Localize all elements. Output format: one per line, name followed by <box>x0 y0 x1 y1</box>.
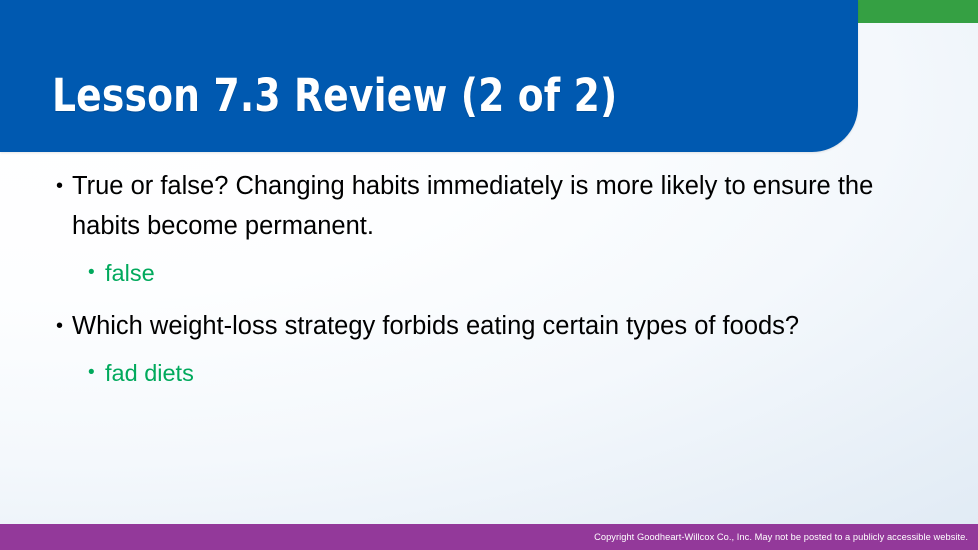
bullet-text-answer-2: fad diets <box>105 354 194 392</box>
bullet-dot-icon: • <box>88 354 105 392</box>
title-banner: Lesson 7.3 Review (2 of 2) <box>0 0 858 152</box>
presentation-slide: Lesson 7.3 Review (2 of 2) • True or fal… <box>0 0 978 550</box>
bullet-dot-icon: • <box>56 166 72 206</box>
bullet-text-question-2: Which weight-loss strategy forbids eatin… <box>72 306 938 346</box>
bullet-text-question-1: True or false? Changing habits immediate… <box>72 166 938 246</box>
bullet-dot-icon: • <box>56 306 72 346</box>
slide-body: • True or false? Changing habits immedia… <box>0 166 978 392</box>
list-item: • True or false? Changing habits immedia… <box>0 166 978 246</box>
copyright-notice: Copyright Goodheart-Willcox Co., Inc. Ma… <box>594 532 968 542</box>
footer-bar: Copyright Goodheart-Willcox Co., Inc. Ma… <box>0 524 978 550</box>
list-item: • fad diets <box>0 354 978 392</box>
page-title: Lesson 7.3 Review (2 of 2) <box>52 72 617 119</box>
spacer <box>0 292 978 306</box>
list-item: • Which weight-loss strategy forbids eat… <box>0 306 978 346</box>
green-accent-bar <box>856 0 978 23</box>
list-item: • false <box>0 254 978 292</box>
bullet-text-answer-1: false <box>105 254 155 292</box>
bullet-dot-icon: • <box>88 254 105 292</box>
